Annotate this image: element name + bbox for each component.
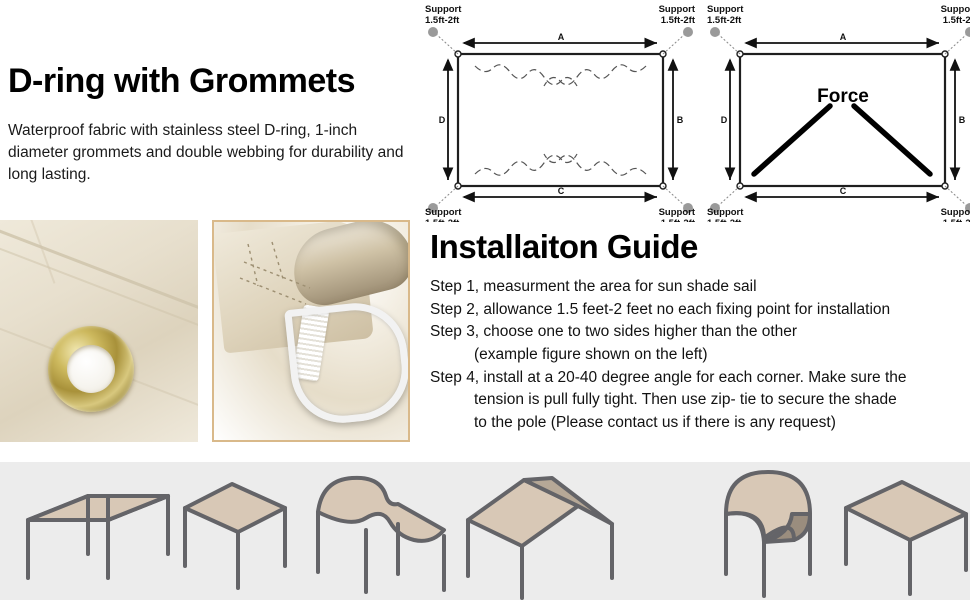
diagram-dimensions: A C D B <box>425 4 696 222</box>
step-line: Step 1, measurment the area for sun shad… <box>430 276 970 299</box>
step-line: Step 3, choose one to two sides higher t… <box>430 321 970 344</box>
step-line: (example figure shown on the left) <box>430 344 970 367</box>
canopy-arched-barrel <box>726 472 810 596</box>
support-label: 1.5ft-2ft <box>425 15 460 26</box>
force-label: Force <box>817 86 869 107</box>
canopy-flat-square <box>185 484 285 588</box>
support-label: Support <box>425 207 462 218</box>
support-label: Support <box>659 4 696 15</box>
support-label: Support <box>425 4 462 15</box>
support-label: 1.5ft-2ft <box>707 15 742 26</box>
support-label: Support <box>707 4 744 15</box>
support-label: 1.5ft-2ft <box>425 218 460 222</box>
canopy-flat-angled <box>846 482 966 594</box>
page-title: D-ring with Grommets <box>8 64 355 100</box>
support-label: 1.5ft-2ft <box>943 15 970 26</box>
support-label: 1.5ft-2ft <box>707 218 742 222</box>
canopy-flat-rectangular <box>28 496 168 578</box>
support-dot <box>428 27 438 37</box>
dimension-label-a: A <box>558 32 565 42</box>
canopy-pitched-gable <box>468 478 612 598</box>
grommet-photo <box>0 220 198 442</box>
installation-steps: Step 1, measurment the area for sun shad… <box>430 276 970 434</box>
support-dot <box>710 27 720 37</box>
support-label: 1.5ft-2ft <box>943 218 970 222</box>
support-dot <box>965 27 970 37</box>
dimension-label-b: B <box>677 115 684 125</box>
step-line: Step 4, install at a 20-40 degree angle … <box>430 367 970 390</box>
dimension-label-a: A <box>840 32 847 42</box>
support-label: Support <box>941 4 970 15</box>
installation-diagrams: A C D B <box>420 0 970 222</box>
dimension-label-c: C <box>840 186 847 196</box>
dimension-label-d: D <box>439 115 446 125</box>
dimension-label-c: C <box>558 186 565 196</box>
dimension-label-d: D <box>721 115 728 125</box>
canopy-shapes-svg <box>0 462 970 600</box>
canopy-shapes-band <box>0 462 970 600</box>
support-label: Support <box>707 207 744 218</box>
step-line: Step 2, allowance 1.5 feet-2 feet no eac… <box>430 299 970 322</box>
diagram-svg: A C D B <box>420 0 970 222</box>
d-ring-photo <box>212 220 410 442</box>
step-line: tension is pull fully tight. Then use zi… <box>430 389 970 412</box>
infographic-page: D-ring with Grommets Waterproof fabric w… <box>0 0 970 600</box>
brass-grommet-icon <box>48 326 134 412</box>
installation-guide-title: Installaiton Guide <box>430 228 698 266</box>
support-dot <box>683 27 693 37</box>
product-description: Waterproof fabric with stainless steel D… <box>8 120 408 186</box>
support-label: Support <box>659 207 696 218</box>
canopy-wave <box>318 478 444 592</box>
support-label: 1.5ft-2ft <box>661 218 696 222</box>
diagram-force: Force A C D B <box>707 4 970 222</box>
step-line: to the pole (Please contact us if there … <box>430 412 970 435</box>
support-label: 1.5ft-2ft <box>661 15 696 26</box>
dimension-label-b: B <box>959 115 966 125</box>
support-label: Support <box>941 207 970 218</box>
